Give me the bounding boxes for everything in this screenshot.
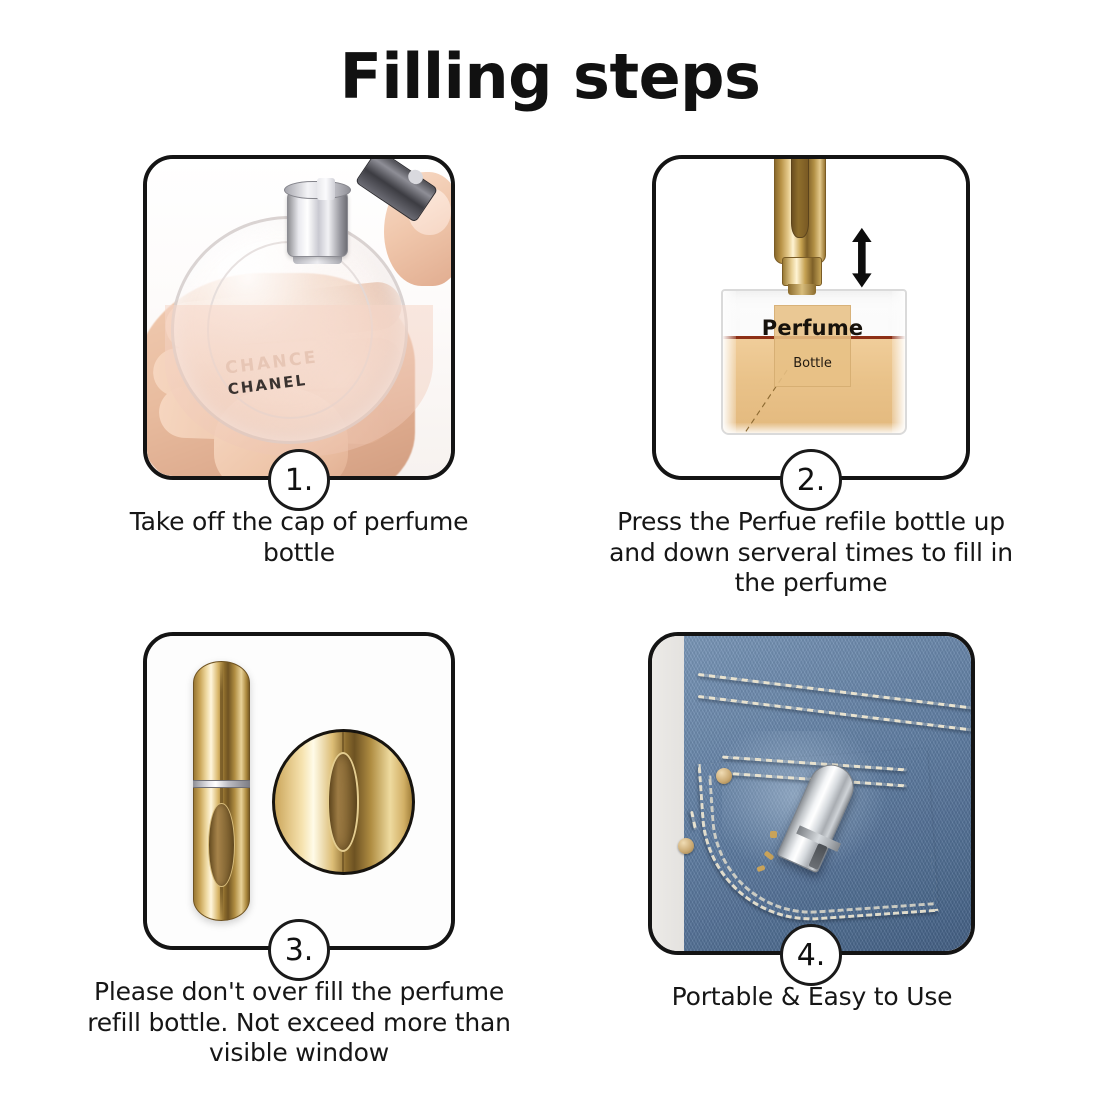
pocket-rivet-1 [716,768,732,784]
filling-steps-infographic: Filling steps CHANCE CHANEL [0,0,1100,1100]
step-4-number: 4. [797,938,826,973]
glass-highlight-left [723,291,736,433]
step-2-image: Perfume Bottle [656,159,966,476]
step-4-image [652,636,971,951]
pocket-rivet-2 [678,838,694,854]
magnified-visible-window [327,752,360,853]
step-1-number: 1. [285,463,314,498]
step-3-number: 3. [285,933,314,968]
label-line-2: Bottle [793,356,832,371]
atomizer-window-slot [791,159,810,238]
chrome-pump [287,191,348,258]
atomizer-collar-base [788,284,816,295]
visible-window-oval [208,803,234,887]
step-4-caption: Portable & Easy to Use [628,982,996,1013]
jeans-pocket-photo [652,636,971,951]
step-1-caption: Take off the cap of perfume bottle [115,507,483,568]
step-1-image: CHANCE CHANEL [147,159,451,476]
page-title: Filling steps [0,40,1100,113]
step-2-caption: Press the Perfue refile bottle up and do… [606,507,1016,599]
step-2-panel: Perfume Bottle [652,155,970,480]
silver-separator-ring [193,780,251,788]
step-2-badge: 2. [780,449,842,511]
glass-highlight-right [892,291,905,433]
step-3-badge: 3. [268,919,330,981]
pump-nozzle [317,178,335,200]
magnified-detail-circle [272,729,415,875]
label-line-1: Perfume [762,316,864,340]
fabric-speck-1 [770,831,777,838]
up-down-arrow-icon [851,226,873,289]
atomizer-collar [782,257,822,286]
perfume-bottle-label: Perfume Bottle [774,305,852,387]
step-1-panel: CHANCE CHANEL [143,155,455,480]
step-3-panel [143,632,455,950]
step-3-image [147,636,451,946]
step-4-badge: 4. [780,924,842,986]
step-4-panel [648,632,975,955]
step-1-badge: 1. [268,449,330,511]
step-2-number: 2. [797,463,826,498]
step-3-caption: Please don't over fill the perfume refil… [85,977,513,1069]
